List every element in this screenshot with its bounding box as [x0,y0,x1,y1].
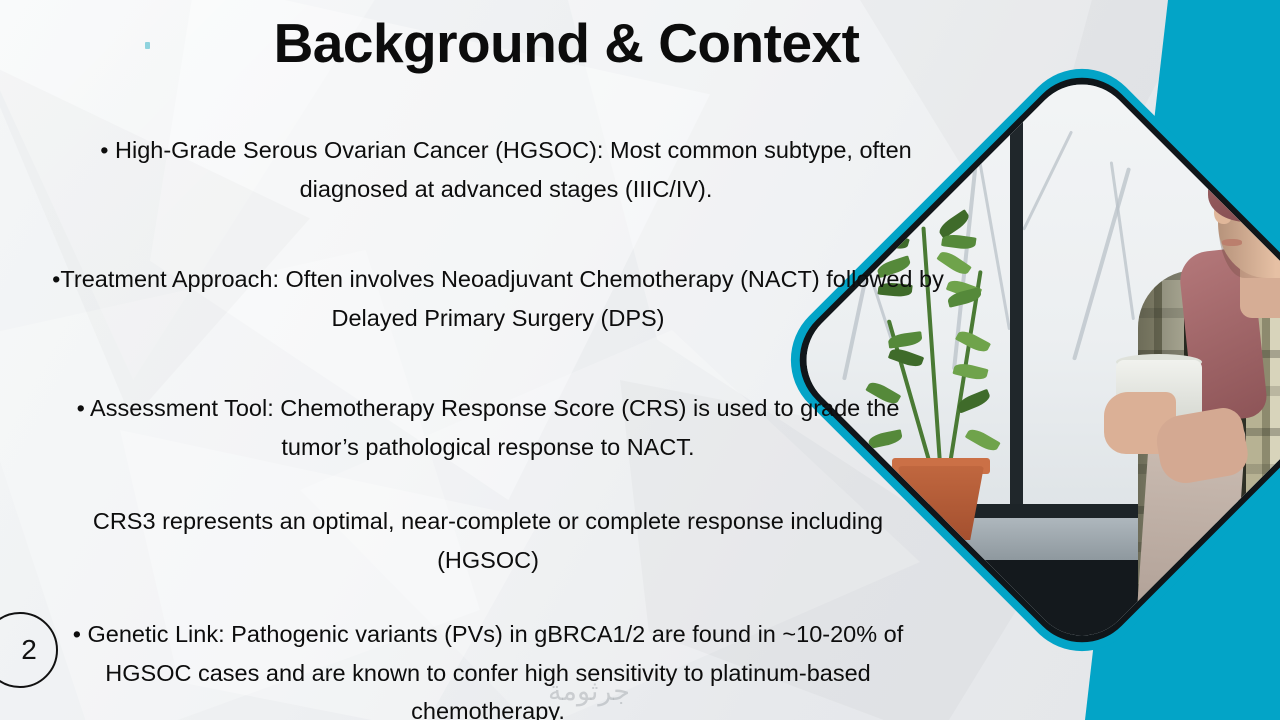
bullet-item: • Genetic Link: Pathogenic variants (PVs… [48,615,928,720]
page-title: Background & Context [0,14,1133,72]
bullet-item: CRS3 represents an optimal, near-complet… [48,502,928,579]
bullet-item: • High-Grade Serous Ovarian Cancer (HGSO… [56,131,956,208]
lips [1222,239,1242,246]
page-number-label: 2 [21,634,37,666]
bullet-item: • Assessment Tool: Chemotherapy Response… [48,389,928,466]
window-mullion [1010,63,1023,520]
bullet-item: •Treatment Approach: Often involves Neoa… [38,260,958,337]
slide-body: • High-Grade Serous Ovarian Cancer (HGSO… [38,131,958,720]
presentation-slide: Background & Context • High-Grade Serous… [0,0,1280,720]
watermark: جرثومة [548,676,630,707]
